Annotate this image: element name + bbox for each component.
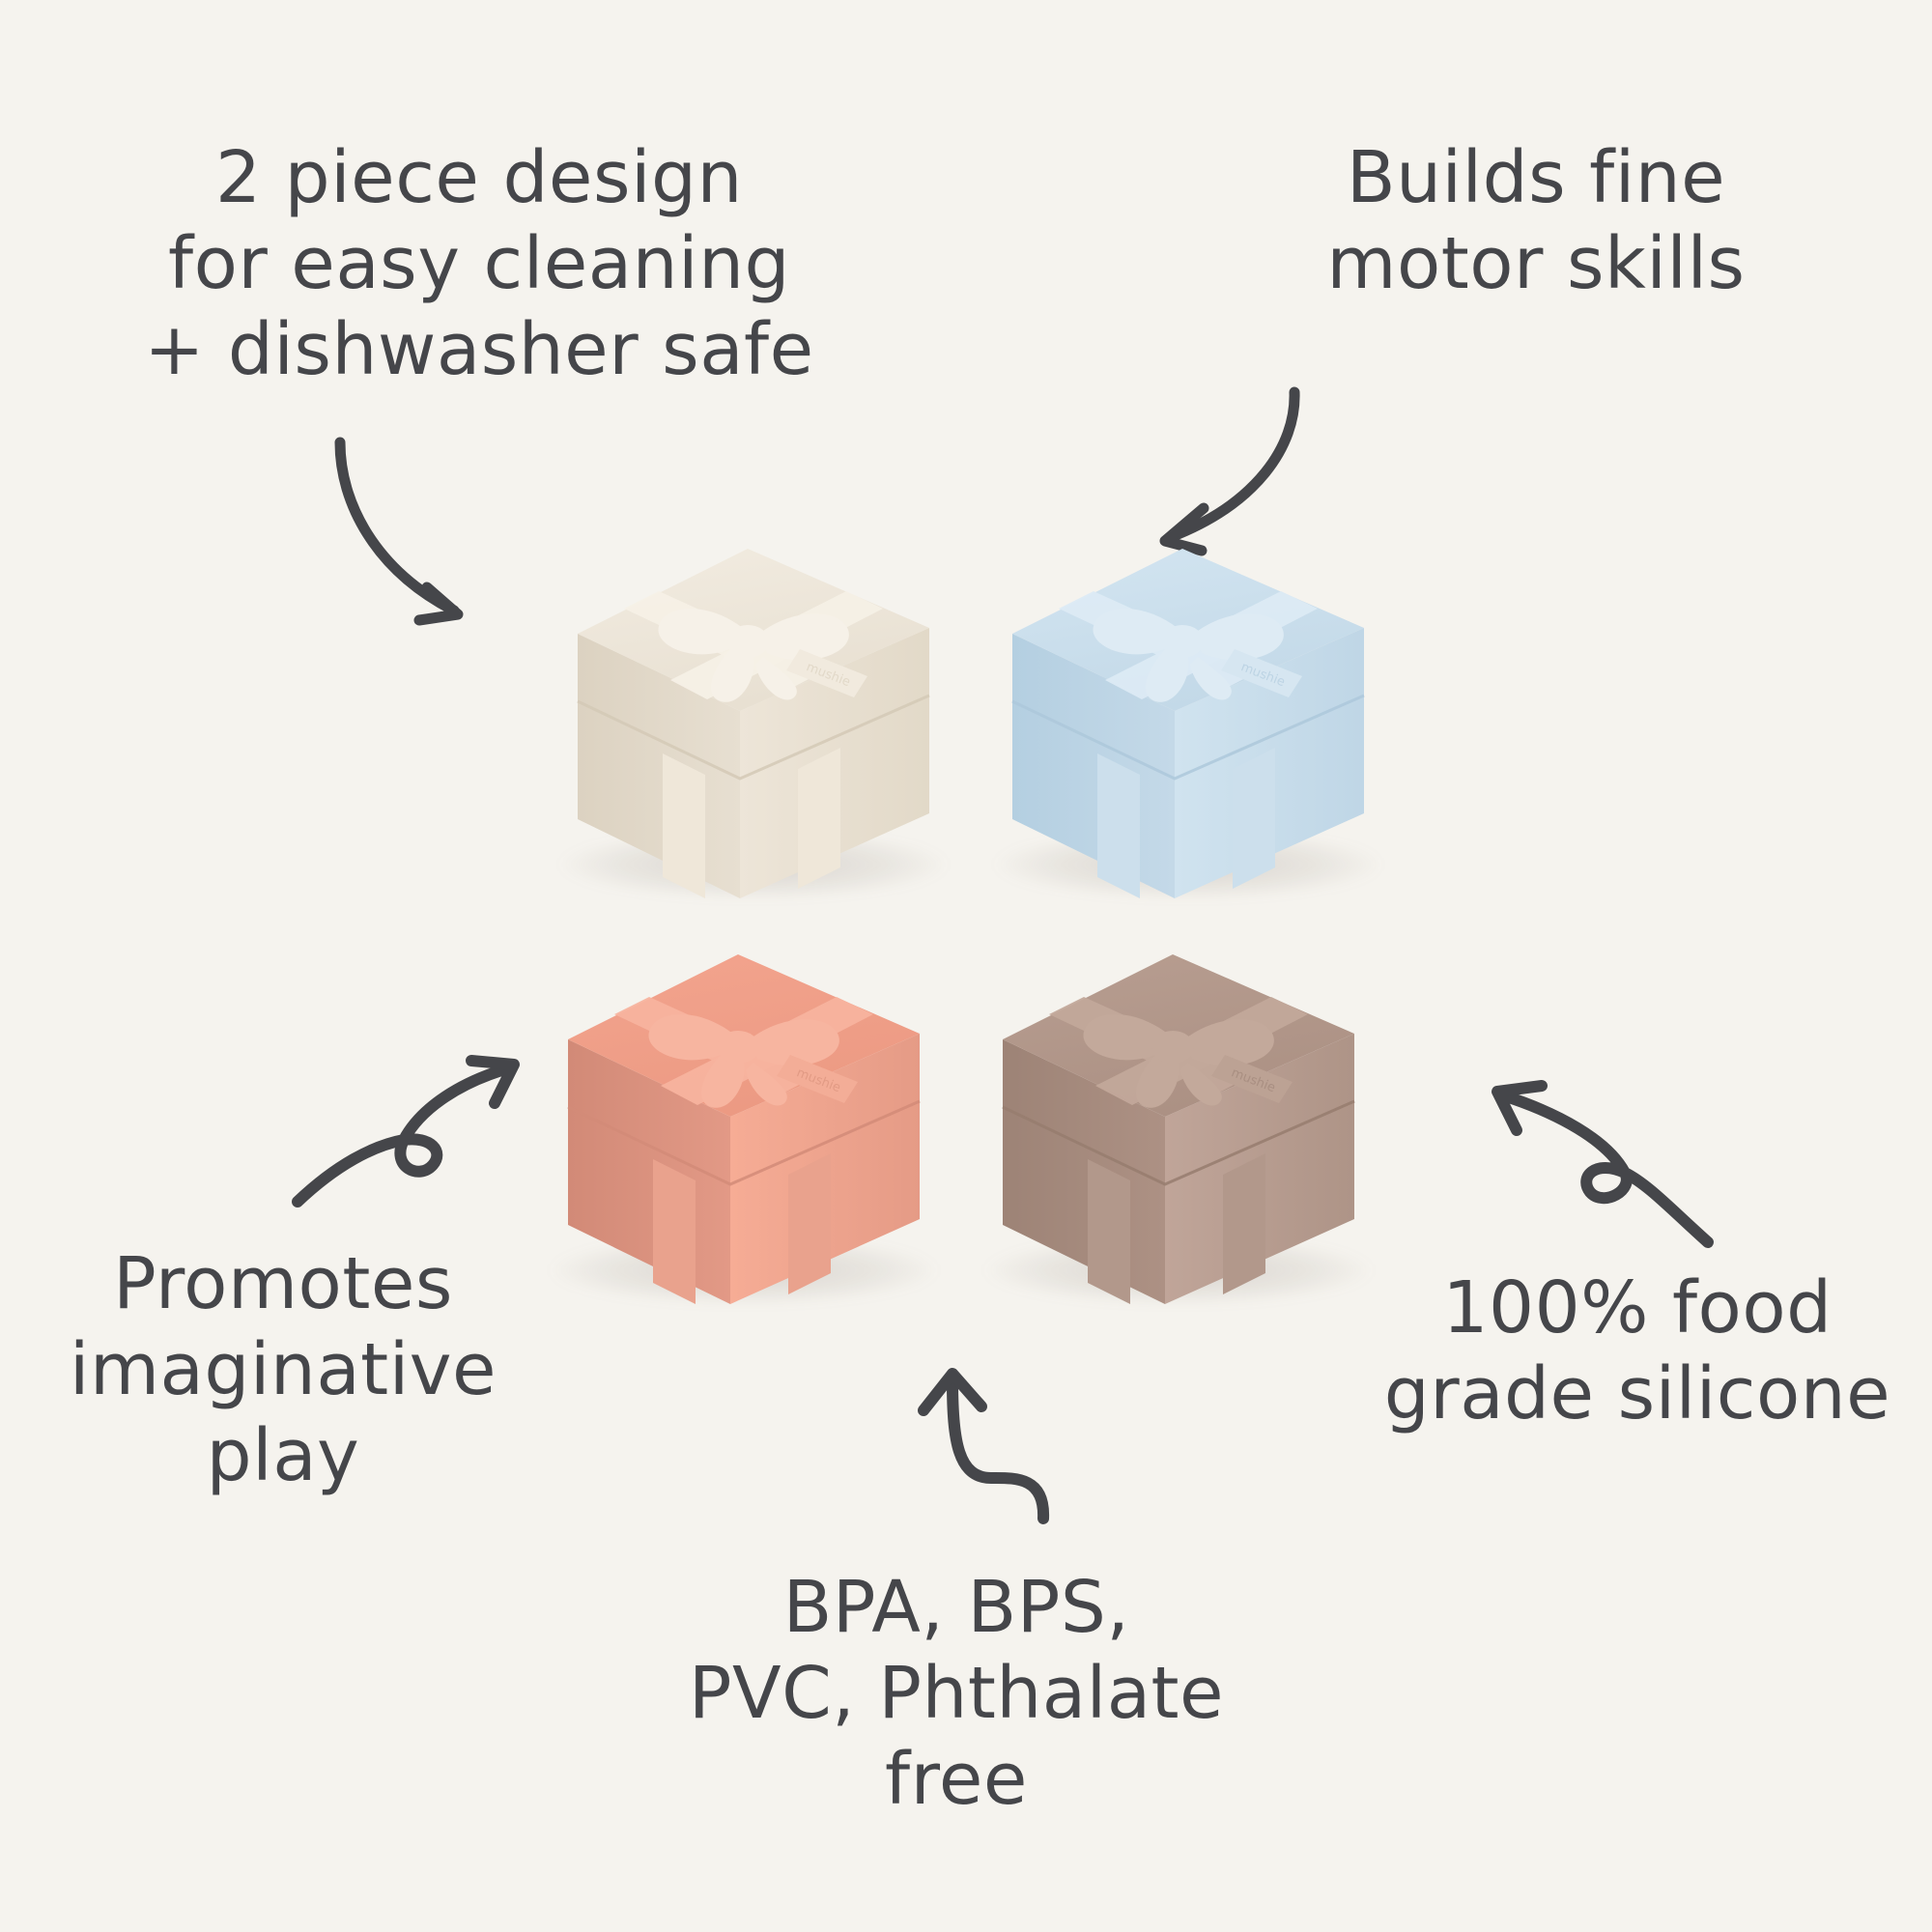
product-coral-gift-box: mushie <box>541 918 947 1323</box>
product-taupe-gift-box: mushie <box>976 918 1381 1323</box>
caption-bpa-free: BPA, BPS, PVC, Phthalate free <box>599 1565 1314 1822</box>
infographic-canvas: 2 piece design for easy cleaning + dishw… <box>0 0 1932 1932</box>
cube-cream: mushie <box>551 512 956 918</box>
arrow-top-left-icon <box>319 435 512 638</box>
caption-two-piece-design: 2 piece design for easy cleaning + dishw… <box>93 135 866 392</box>
caption-promotes-imaginative-play: Promotes imaginative play <box>56 1241 510 1498</box>
cube-coral: mushie <box>541 918 947 1323</box>
caption-food-grade-silicone: 100% food grade silicone <box>1343 1265 1932 1437</box>
arrow-bottom-left-icon <box>290 1043 531 1227</box>
cube-taupe: mushie <box>976 918 1381 1323</box>
product-cream-gift-box: mushie <box>551 512 956 918</box>
arrow-bottom-right-icon <box>1478 1072 1719 1265</box>
caption-builds-fine-motor-skills: Builds fine motor skills <box>1198 135 1874 307</box>
product-blue-gift-box: mushie <box>985 512 1391 918</box>
cube-blue: mushie <box>985 512 1391 918</box>
arrow-bottom-center-icon <box>898 1352 1092 1526</box>
